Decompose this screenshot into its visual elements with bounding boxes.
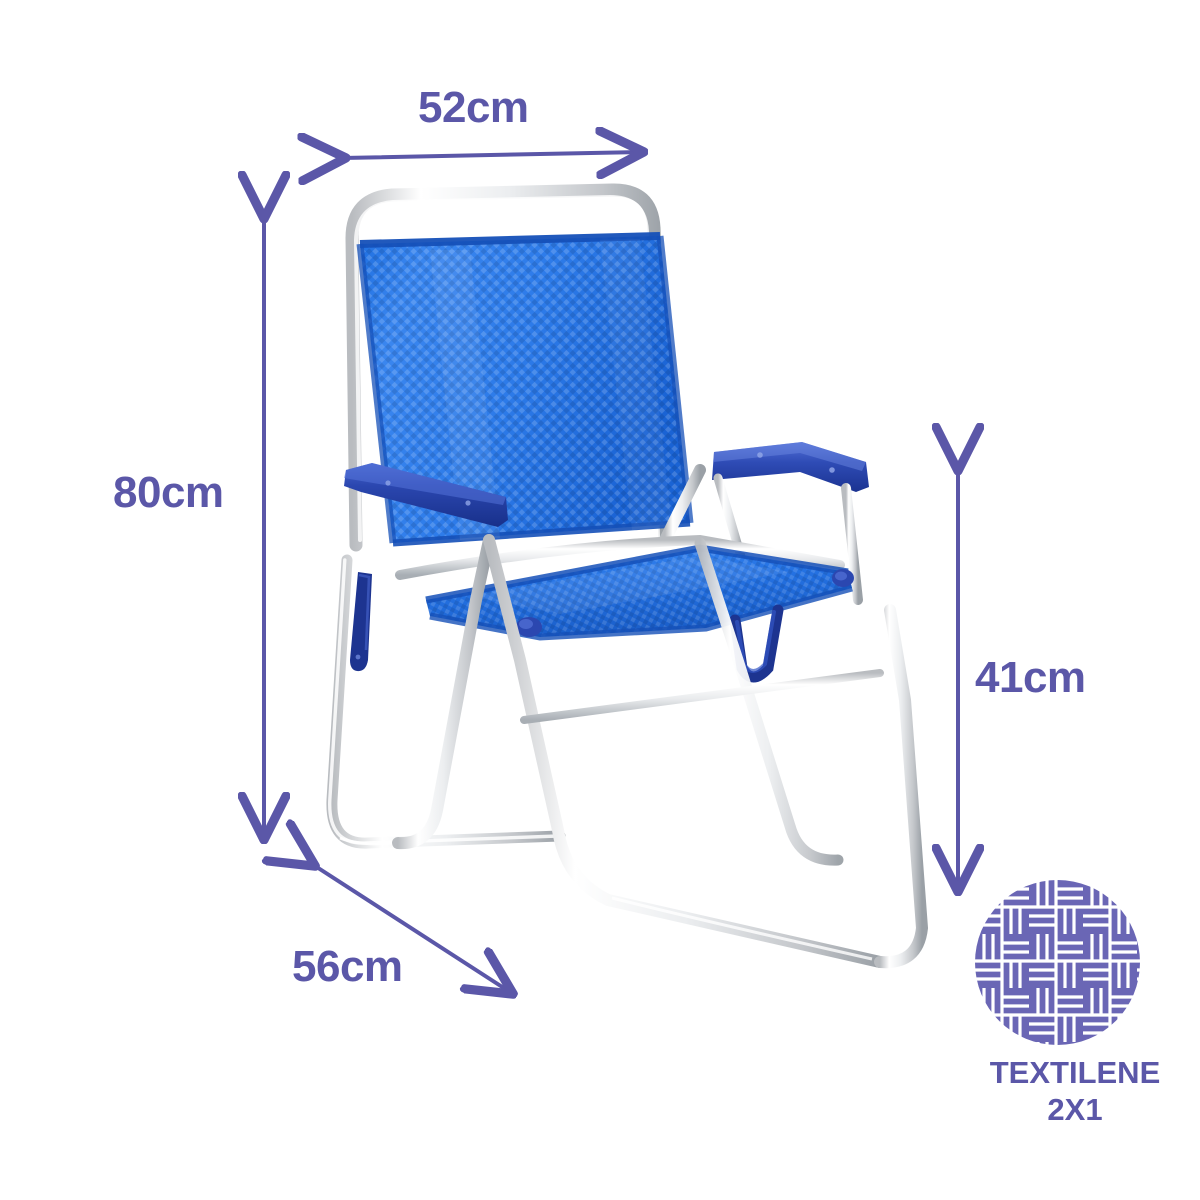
dimension-label-height: 80cm [113, 468, 224, 518]
front-left-leg [398, 540, 489, 843]
dim-line-52cm [342, 152, 640, 158]
dimension-label-depth: 56cm [292, 942, 403, 992]
side-hinge [350, 572, 372, 671]
basketweave-pattern-icon [975, 880, 1140, 1045]
badge-material-spec: 2X1 [960, 1092, 1190, 1128]
seat-knob [516, 617, 542, 637]
crossbar [524, 673, 880, 720]
textilene-badge: TEXTILENE 2X1 [960, 880, 1190, 1170]
dimension-label-seat-height: 41cm [975, 653, 1086, 703]
diagram-canvas: 52cm 80cm 41cm 56cm [0, 0, 1200, 1200]
chair-graphic [330, 190, 922, 962]
badge-material-name: TEXTILENE [960, 1055, 1190, 1091]
dimension-label-width: 52cm [418, 83, 529, 133]
seat-knob-right [832, 569, 854, 587]
